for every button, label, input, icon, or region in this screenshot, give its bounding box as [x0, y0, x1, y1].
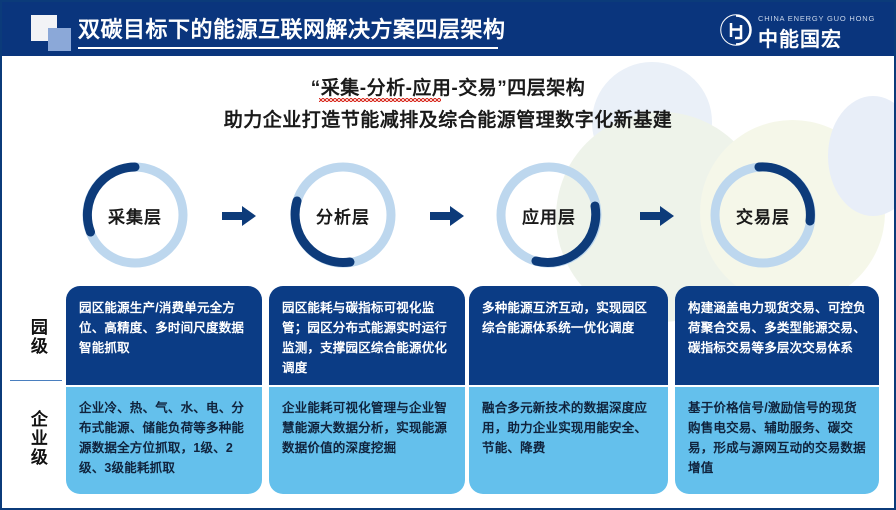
row-label-park-level: 园级 [14, 298, 60, 376]
card-park-collection[interactable]: 园区能源生产/消费单元全方位、高精度、多时间尺度数据智能抓取 [66, 286, 262, 386]
card-seam [66, 385, 262, 387]
row-label-text: 企业级 [28, 410, 46, 467]
flow-stage-row: 采集层 分析层 应用层 [0, 158, 896, 276]
slide-canvas: 双碳目标下的能源互联网解决方案四层架构 CHINA ENERGY GUO HON… [0, 0, 896, 510]
row-label-enterprise-level: 企业级 [14, 388, 60, 488]
energy-guohong-logo-icon [720, 14, 752, 46]
logo-english-text: CHINA ENERGY GUO HONG [758, 14, 875, 23]
flow-stage-trading[interactable]: 交易层 [706, 158, 820, 272]
subtitle-line-2: 助力企业打造节能减排及综合能源管理数字化新基建 [0, 104, 896, 138]
spellcheck-squiggle-underline [319, 98, 441, 102]
card-enterprise-analysis[interactable]: 企业能耗可视化管理与企业智慧能源大数据分析，实现能源数据价值的深度挖掘 [269, 386, 465, 494]
flow-stage-analysis[interactable]: 分析层 [286, 158, 400, 272]
company-logo: CHINA ENERGY GUO HONG 中能国宏 [720, 10, 880, 50]
card-park-trading[interactable]: 构建涵盖电力现货交易、可控负荷聚合交易、多类型能源交易、碳指标交易等多层次交易体… [675, 286, 879, 386]
card-seam [269, 385, 465, 387]
subtitle-block: “采集-分析-应用-交易”四层架构 助力企业打造节能减排及综合能源管理数字化新基… [0, 74, 896, 138]
flow-stage-label: 采集层 [78, 158, 192, 272]
logo-chinese-text: 中能国宏 [758, 23, 842, 52]
card-enterprise-collection[interactable]: 企业冷、热、气、水、电、分布式能源、储能负荷等多种能源数据全方位抓取，1级、2级… [66, 386, 262, 494]
flow-stage-label: 分析层 [286, 158, 400, 272]
subtitle-line-1-text: “采集-分析-应用-交易”四层架构 [311, 78, 585, 99]
right-arrow-icon [430, 205, 464, 227]
card-park-application[interactable]: 多种能源互济互动，实现园区综合能源体系统一优化调度 [469, 286, 668, 386]
page-title: 双碳目标下的能源互联网解决方案四层架构 [78, 13, 506, 47]
row-label-divider [10, 380, 62, 381]
card-enterprise-application[interactable]: 融合多元新技术的数据深度应用，助力企业实现用能安全、节能、降费 [469, 386, 668, 494]
flow-stage-label: 交易层 [706, 158, 820, 272]
right-arrow-icon [640, 205, 674, 227]
card-seam [469, 385, 668, 387]
subtitle-line-1: “采集-分析-应用-交易”四层架构 [311, 74, 585, 104]
overlapping-squares-icon-front [48, 28, 71, 51]
header-underline [78, 47, 498, 49]
slide-header: 双碳目标下的能源互联网解决方案四层架构 CHINA ENERGY GUO HON… [2, 2, 894, 56]
flow-stage-application[interactable]: 应用层 [492, 158, 606, 272]
card-seam [675, 385, 879, 387]
row-label-text: 园级 [28, 318, 46, 356]
flow-stage-label: 应用层 [492, 158, 606, 272]
card-park-analysis[interactable]: 园区能耗与碳指标可视化监管；园区分布式能源实时运行监测，支撑园区综合能源优化调度 [269, 286, 465, 386]
flow-stage-collection[interactable]: 采集层 [78, 158, 192, 272]
card-enterprise-trading[interactable]: 基于价格信号/激励信号的现货购售电交易、辅助服务、碳交易，形成与源网互动的交易数… [675, 386, 879, 494]
right-arrow-icon [222, 205, 256, 227]
